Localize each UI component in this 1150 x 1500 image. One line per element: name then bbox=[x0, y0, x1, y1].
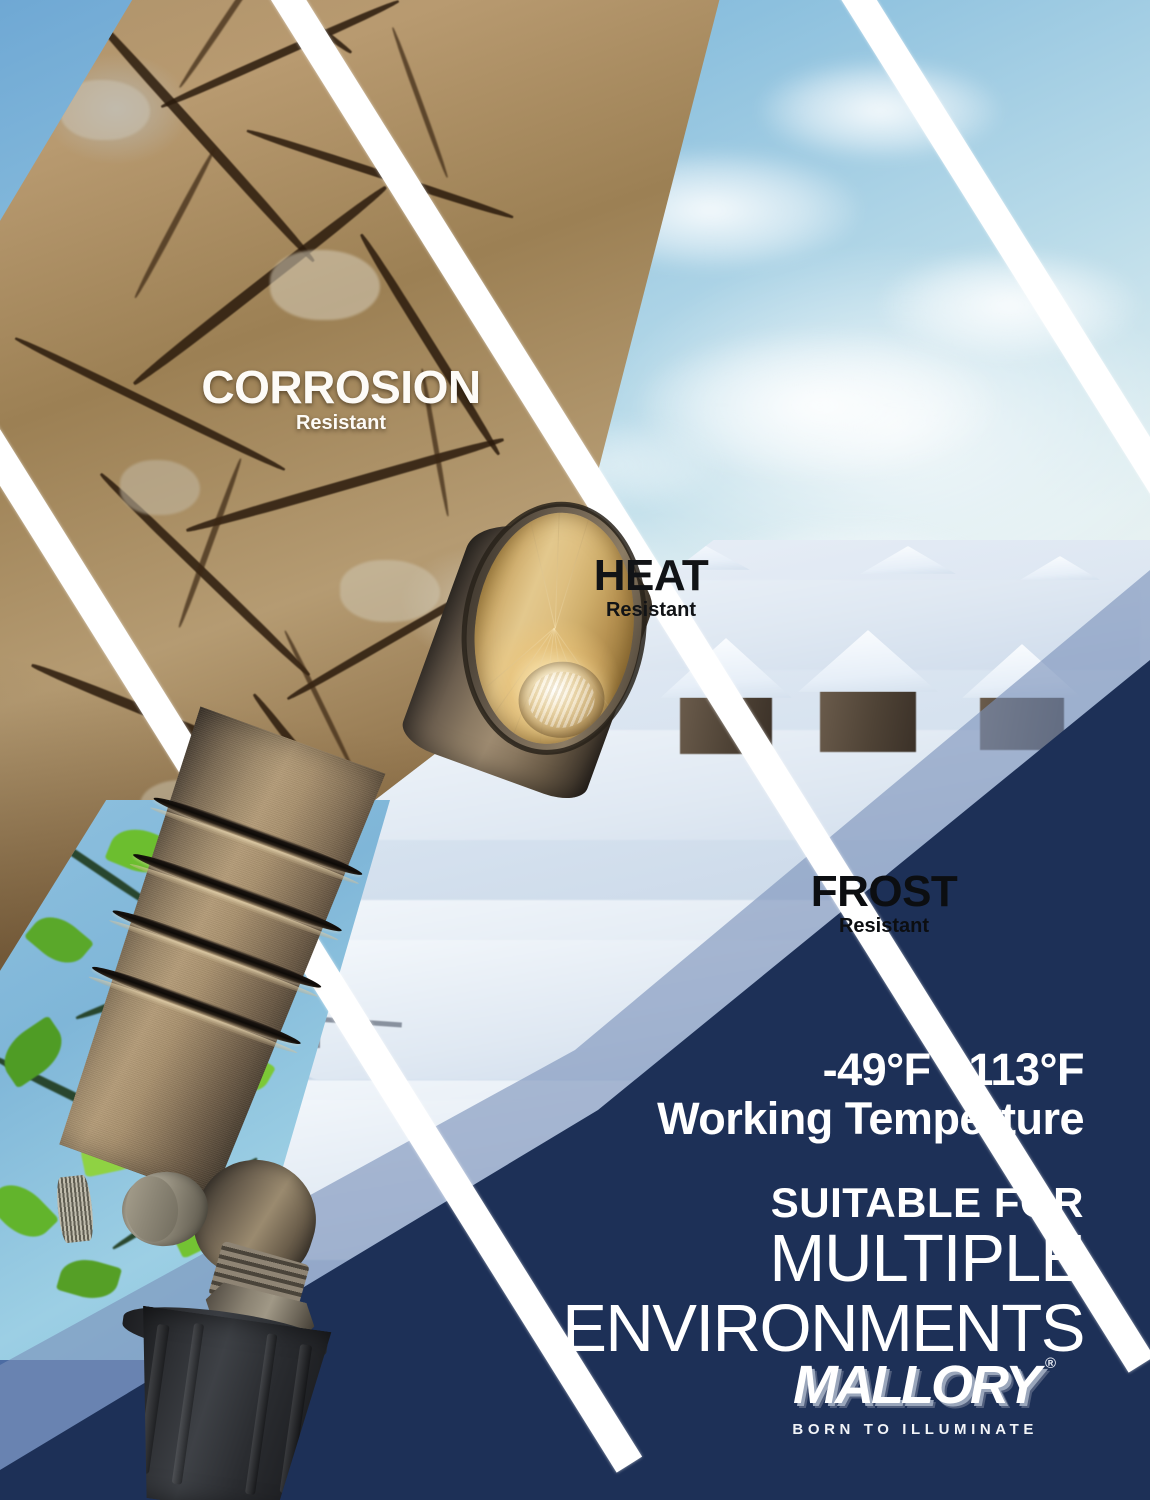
headline-kicker: SUITABLE FOR bbox=[444, 1182, 1084, 1224]
logo-tagline: BORN TO ILLUMINATE bbox=[792, 1421, 1038, 1438]
bulb-lens-face bbox=[526, 669, 597, 731]
temperature-range: -49°F ~113°F bbox=[444, 1046, 1084, 1094]
feature-subtitle-heat: Resistant bbox=[556, 600, 746, 620]
feature-title-corrosion: CORROSION bbox=[196, 364, 486, 410]
headline-line-2: ENVIRONMENTS bbox=[444, 1294, 1084, 1364]
lamp-head bbox=[394, 473, 692, 818]
lamp-body bbox=[35, 703, 393, 1208]
logo-wordmark: MALLORY® bbox=[792, 1358, 1038, 1412]
brand-logo: MALLORY® BORN TO ILLUMINATE bbox=[792, 1358, 1038, 1438]
feature-label-frost: FROST Resistant bbox=[796, 870, 972, 936]
temperature-label: Working Temperture bbox=[444, 1094, 1084, 1144]
feature-title-heat: HEAT bbox=[556, 554, 746, 598]
feature-label-heat: HEAT Resistant bbox=[556, 554, 746, 620]
product-marketing-poster: CORROSION Resistant HEAT Resistant FROST… bbox=[0, 0, 1150, 1500]
headline-line-1: MULTIPLE bbox=[444, 1224, 1084, 1294]
feature-title-frost: FROST bbox=[796, 870, 972, 914]
registered-trademark-icon: ® bbox=[1045, 1356, 1056, 1371]
mr16-bulb bbox=[515, 658, 607, 741]
marketing-copy: -49°F ~113°F Working Temperture SUITABLE… bbox=[444, 1046, 1084, 1363]
feature-label-corrosion: CORROSION Resistant bbox=[196, 364, 486, 433]
feature-subtitle-corrosion: Resistant bbox=[196, 413, 486, 433]
thumb-knob-knurl bbox=[55, 1174, 96, 1243]
feature-subtitle-frost: Resistant bbox=[796, 916, 972, 936]
